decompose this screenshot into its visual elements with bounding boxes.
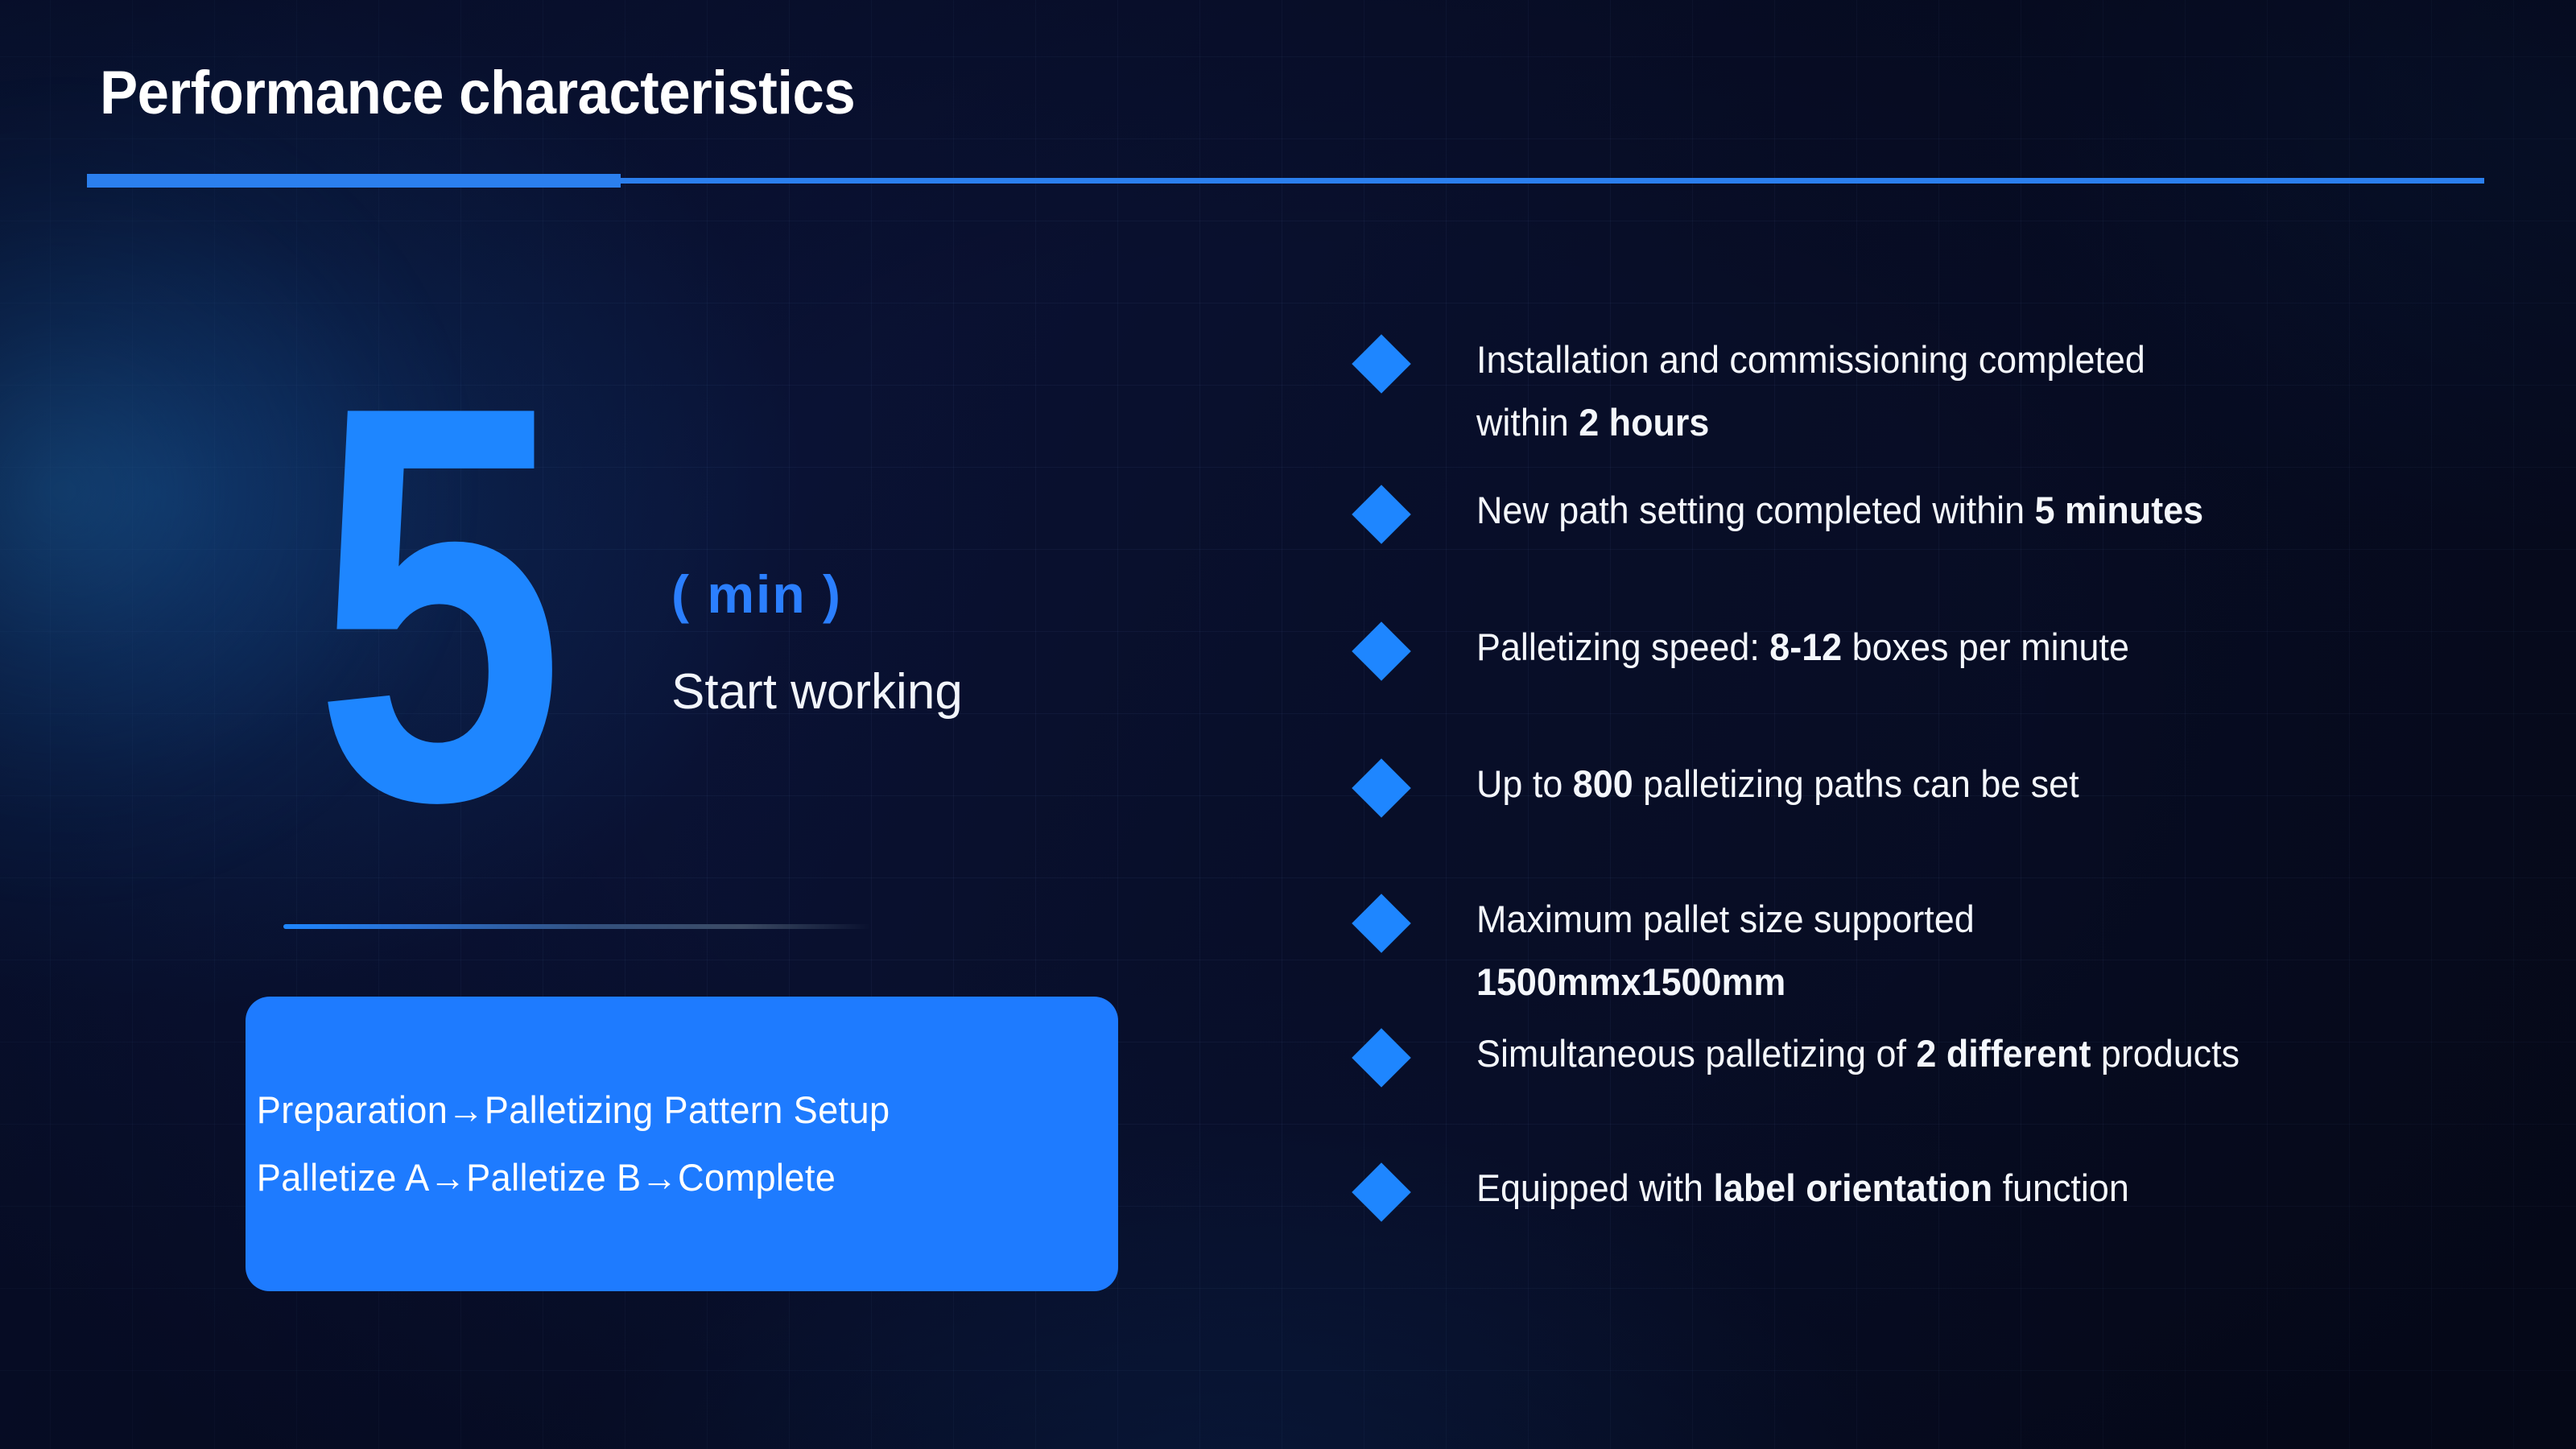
feature-item-label: Up to 800 palletizing paths can be set bbox=[1476, 753, 2079, 815]
stat-caption: Start working bbox=[671, 663, 963, 720]
feature-item-label: Maximum pallet size supported1500mmx1500… bbox=[1476, 888, 1975, 1013]
workflow-callout-box: Preparation→Palletizing Pattern Setup Pa… bbox=[246, 997, 1118, 1291]
stat-unit: ( min ) bbox=[671, 563, 842, 625]
feature-item-label: Installation and commissioning completed… bbox=[1476, 328, 2145, 454]
workflow-line-2: Palletize A→Palletize B→Complete bbox=[251, 1144, 1084, 1212]
feature-item-label: Simultaneous palletizing of 2 different … bbox=[1476, 1022, 2240, 1085]
feature-item-label: Equipped with label orientation function bbox=[1476, 1157, 2129, 1220]
feature-item-label: New path setting completed within 5 minu… bbox=[1476, 479, 2203, 542]
workflow-line-1: Preparation→Palletizing Pattern Setup bbox=[251, 1076, 1084, 1144]
title-underline-thick bbox=[87, 174, 621, 188]
page-title: Performance characteristics bbox=[100, 58, 855, 128]
stat-number: 5 bbox=[314, 322, 558, 885]
slide-root: Performance characteristics 5 ( min ) St… bbox=[0, 0, 2576, 1449]
feature-item-label: Palletizing speed: 8-12 boxes per minute bbox=[1476, 616, 2129, 679]
section-divider bbox=[283, 924, 871, 929]
